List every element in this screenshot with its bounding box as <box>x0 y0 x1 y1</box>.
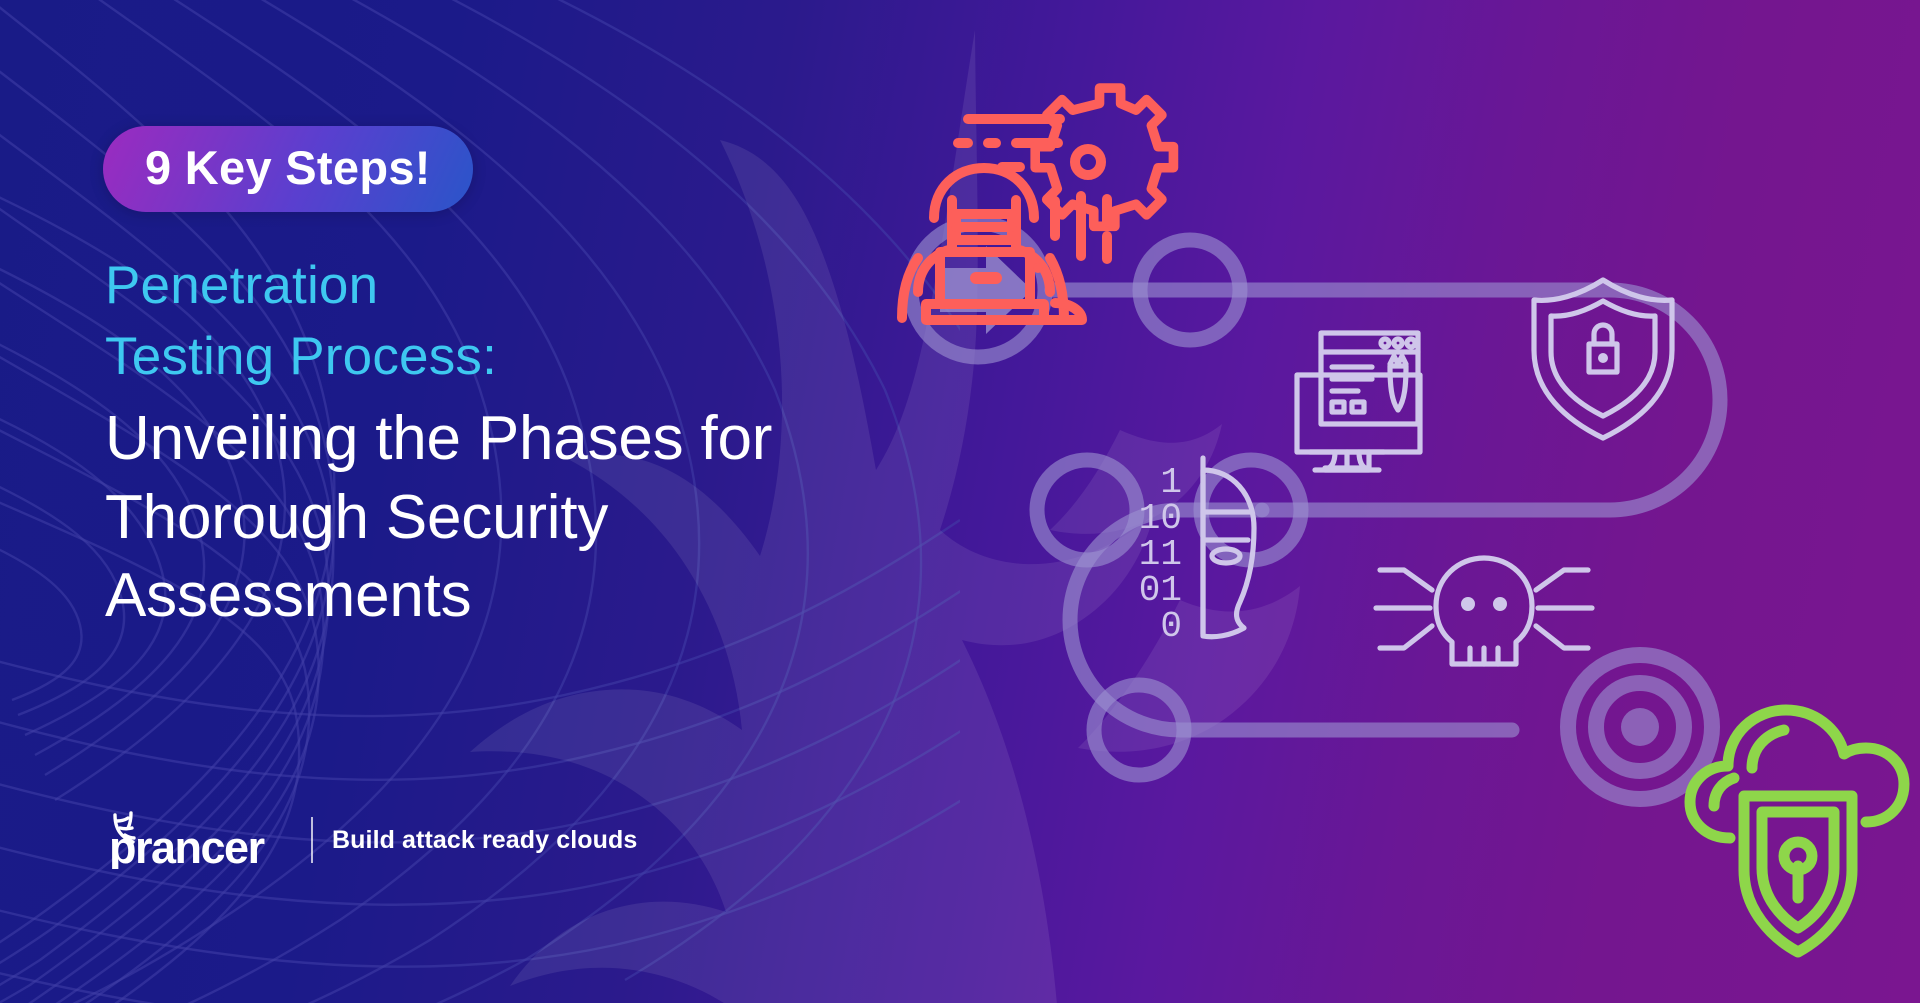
headline-line-2: Thorough Security <box>105 479 772 558</box>
prancer-logo: prancer <box>103 811 289 869</box>
headline-line-1: Unveiling the Phases for <box>105 400 772 479</box>
eyebrow-line-1: Penetration <box>105 250 497 321</box>
eyebrow-line-2: Testing Process: <box>105 321 497 392</box>
logo-tagline: Build attack ready clouds <box>332 826 637 855</box>
prancer-wordmark-text: prancer <box>109 822 265 869</box>
banner-canvas: .flow { fill:none; stroke:#9b8fd0; strok… <box>0 0 1920 1003</box>
text-content-column: 9 Key Steps! Penetration Testing Process… <box>103 0 923 1003</box>
logo-divider <box>311 817 313 863</box>
eyebrow-title: Penetration Testing Process: <box>105 250 497 392</box>
headline: Unveiling the Phases for Thorough Securi… <box>105 400 772 636</box>
headline-line-3: Assessments <box>105 557 772 636</box>
logo-lockup[interactable]: prancer Build attack ready clouds <box>103 810 637 870</box>
key-steps-badge[interactable]: 9 Key Steps! <box>103 126 473 212</box>
key-steps-badge-label: 9 Key Steps! <box>145 144 431 191</box>
antler-mark-icon: prancer <box>103 811 289 869</box>
